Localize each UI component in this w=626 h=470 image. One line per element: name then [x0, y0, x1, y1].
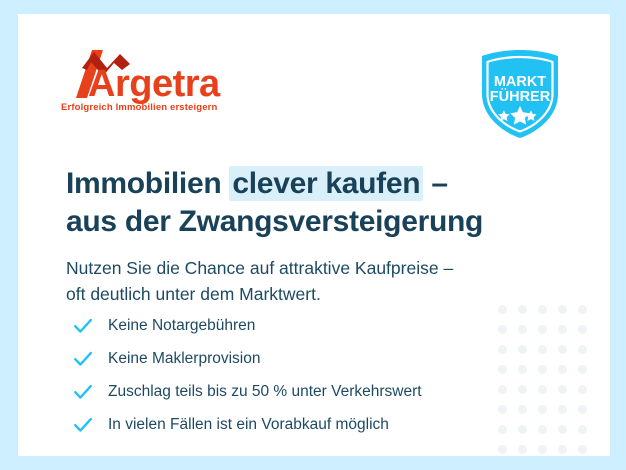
subtitle-line-2: oft deutlich unter dem Marktwert. — [66, 281, 453, 308]
decorative-dot — [578, 445, 587, 454]
argetra-logo[interactable]: Argetra Erfolgreich Immobilien ersteiger… — [58, 46, 258, 124]
badge-line-1: MARKT — [494, 74, 546, 90]
headline-text-before: Immobilien — [66, 167, 229, 200]
decorative-dot — [538, 385, 547, 394]
banner-card: Argetra Erfolgreich Immobilien ersteiger… — [18, 14, 610, 456]
decorative-dot — [558, 305, 567, 314]
decorative-dot — [498, 385, 507, 394]
feature-item: In vielen Fällen ist ein Vorabkauf mögli… — [72, 410, 422, 440]
feature-label: Keine Notargebühren — [108, 318, 255, 334]
decorative-dot — [498, 365, 507, 374]
decorative-dot — [538, 305, 547, 314]
decorative-dot — [518, 345, 527, 354]
decorative-dot — [558, 365, 567, 374]
check-icon — [72, 348, 94, 370]
feature-label: In vielen Fällen ist ein Vorabkauf mögli… — [108, 417, 389, 433]
decorative-dot — [518, 385, 527, 394]
check-icon — [72, 381, 94, 403]
market-leader-badge: MARKT FÜHRER — [476, 48, 564, 140]
check-icon — [72, 315, 94, 337]
feature-list: Keine NotargebührenKeine Maklerprovision… — [72, 311, 422, 443]
logo-tagline: Erfolgreich Immobilien ersteigern — [61, 102, 217, 113]
decorative-dot — [498, 305, 507, 314]
decorative-dot — [518, 325, 527, 334]
decorative-dot — [498, 405, 507, 414]
decorative-dot — [558, 425, 567, 434]
decorative-dot — [538, 365, 547, 374]
decorative-dot — [578, 405, 587, 414]
decorative-dot — [518, 305, 527, 314]
promo-banner: Argetra Erfolgreich Immobilien ersteiger… — [0, 0, 626, 470]
headline-line-1: Immobilien clever kaufen – — [66, 165, 483, 203]
argetra-a-roof-icon: Argetra — [58, 46, 258, 106]
decorative-dot — [578, 365, 587, 374]
decorative-dot — [538, 445, 547, 454]
subtitle-line-1: Nutzen Sie die Chance auf attraktive Kau… — [66, 255, 453, 282]
svg-text:Argetra: Argetra — [88, 63, 221, 105]
feature-item: Keine Maklerprovision — [72, 344, 422, 374]
badge-line-2: FÜHRER — [490, 88, 551, 105]
decorative-dot — [578, 325, 587, 334]
decorative-dot — [498, 325, 507, 334]
decorative-dot — [558, 385, 567, 394]
decorative-dot — [518, 405, 527, 414]
subtitle: Nutzen Sie die Chance auf attraktive Kau… — [66, 255, 453, 308]
decorative-dot — [518, 365, 527, 374]
decorative-dot — [498, 345, 507, 354]
decorative-dot — [578, 385, 587, 394]
decorative-dot — [518, 425, 527, 434]
feature-item: Zuschlag teils bis zu 50 % unter Verkehr… — [72, 377, 422, 407]
decorative-dot — [538, 325, 547, 334]
check-icon — [72, 414, 94, 436]
decorative-dot — [578, 305, 587, 314]
decorative-dot — [558, 405, 567, 414]
decorative-dot — [538, 345, 547, 354]
feature-label: Zuschlag teils bis zu 50 % unter Verkehr… — [108, 384, 422, 400]
decorative-dot — [558, 325, 567, 334]
shield-badge-icon: MARKT FÜHRER — [476, 48, 564, 140]
feature-item: Keine Notargebühren — [72, 311, 422, 341]
decorative-dot — [558, 345, 567, 354]
headline: Immobilien clever kaufen – aus der Zwang… — [66, 165, 483, 241]
decorative-dot — [498, 445, 507, 454]
decorative-dot-grid — [492, 299, 592, 456]
decorative-dot — [578, 345, 587, 354]
headline-line-2: aus der Zwangsversteigerung — [66, 203, 483, 241]
decorative-dot — [518, 445, 527, 454]
decorative-dot — [538, 425, 547, 434]
feature-label: Keine Maklerprovision — [108, 351, 261, 367]
decorative-dot — [578, 425, 587, 434]
decorative-dot — [538, 405, 547, 414]
decorative-dot — [558, 445, 567, 454]
headline-text-after: – — [423, 167, 447, 200]
headline-highlight: clever kaufen — [229, 166, 423, 201]
decorative-dot — [498, 425, 507, 434]
